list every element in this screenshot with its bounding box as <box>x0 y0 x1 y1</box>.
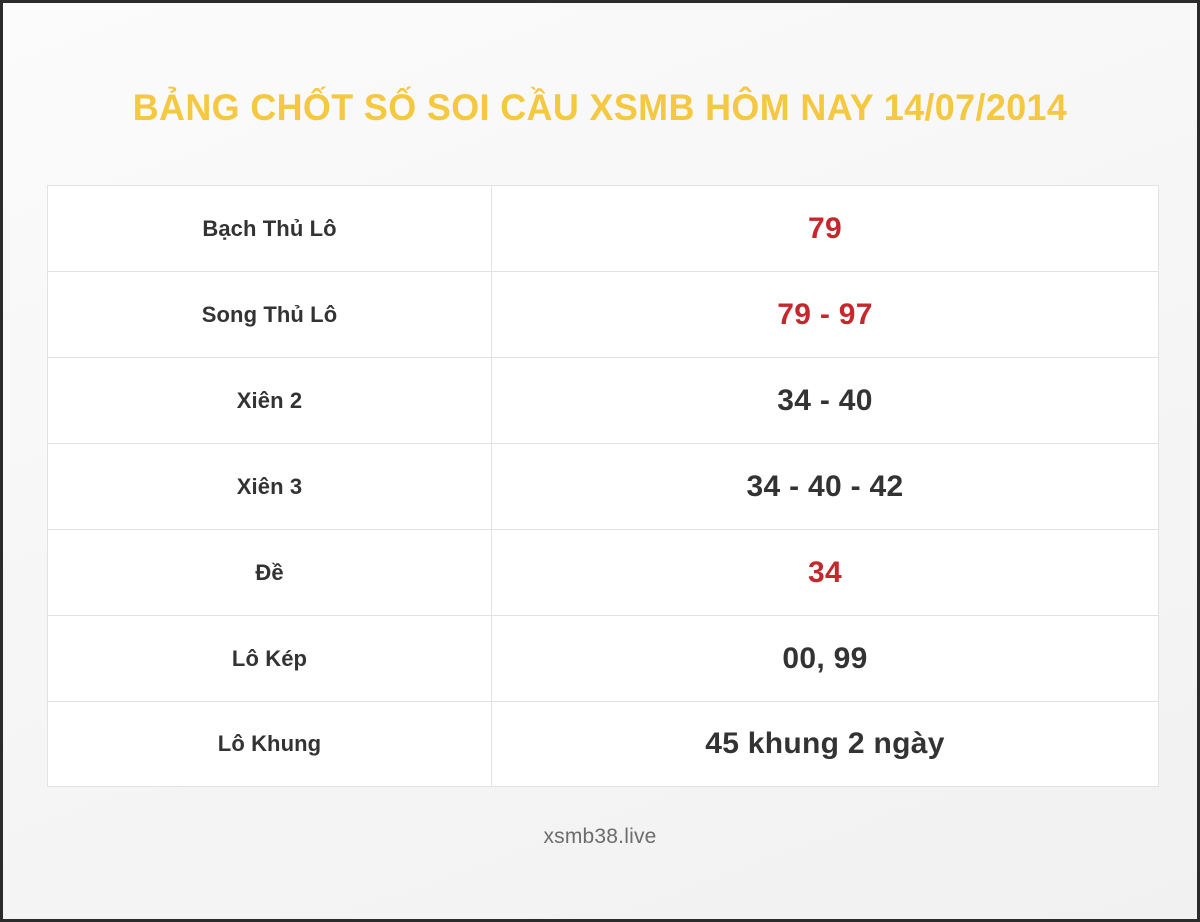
row-value: 34 - 40 - 42 <box>746 470 903 503</box>
row-value-highlight: 79 <box>808 212 842 245</box>
site-watermark: xsmb38.live <box>543 825 656 848</box>
row-value-cell: 79 <box>491 185 1159 271</box>
table-row: Lô Khung45 khung 2 ngày <box>47 701 1159 787</box>
title-bar: BẢNG CHỐT SỐ SOI CẦU XSMB HÔM NAY 14/07/… <box>3 3 1197 126</box>
row-label: Lô Kép <box>232 646 307 671</box>
site-footer: xsmb38.live <box>3 825 1197 849</box>
table-row: Lô Kép00, 99 <box>47 615 1159 701</box>
row-value-cell: 34 - 40 - 42 <box>491 443 1159 529</box>
row-value: 34 - 40 <box>777 384 873 417</box>
page-frame: BẢNG CHỐT SỐ SOI CẦU XSMB HÔM NAY 14/07/… <box>0 0 1200 922</box>
table-row: Đề34 <box>47 529 1159 615</box>
row-label-cell: Bạch Thủ Lô <box>47 185 491 271</box>
table-row: Bạch Thủ Lô79 <box>47 185 1159 271</box>
row-value: 45 khung 2 ngày <box>705 727 945 760</box>
row-label: Bạch Thủ Lô <box>202 216 336 241</box>
row-value-cell: 34 <box>491 529 1159 615</box>
row-label-cell: Song Thủ Lô <box>47 271 491 357</box>
table-row: Xiên 334 - 40 - 42 <box>47 443 1159 529</box>
page-title: BẢNG CHỐT SỐ SOI CẦU XSMB HÔM NAY 14/07/… <box>21 89 1179 126</box>
row-value-highlight: 34 <box>808 556 842 589</box>
prediction-table: Bạch Thủ Lô79Song Thủ Lô79 - 97Xiên 234 … <box>47 185 1159 787</box>
row-label: Đề <box>255 560 283 585</box>
table-row: Xiên 234 - 40 <box>47 357 1159 443</box>
row-label: Song Thủ Lô <box>202 302 338 327</box>
row-value-cell: 79 - 97 <box>491 271 1159 357</box>
row-value-highlight: 79 - 97 <box>777 298 873 331</box>
row-label: Xiên 3 <box>237 474 302 499</box>
row-label-cell: Xiên 2 <box>47 357 491 443</box>
row-label: Xiên 2 <box>237 388 302 413</box>
row-value-cell: 00, 99 <box>491 615 1159 701</box>
row-value-cell: 45 khung 2 ngày <box>491 701 1159 787</box>
row-value-cell: 34 - 40 <box>491 357 1159 443</box>
row-label-cell: Lô Kép <box>47 615 491 701</box>
row-label-cell: Đề <box>47 529 491 615</box>
prediction-table-body: Bạch Thủ Lô79Song Thủ Lô79 - 97Xiên 234 … <box>47 185 1159 787</box>
row-label-cell: Lô Khung <box>47 701 491 787</box>
table-row: Song Thủ Lô79 - 97 <box>47 271 1159 357</box>
row-label-cell: Xiên 3 <box>47 443 491 529</box>
row-value: 00, 99 <box>782 642 867 675</box>
row-label: Lô Khung <box>218 731 321 756</box>
